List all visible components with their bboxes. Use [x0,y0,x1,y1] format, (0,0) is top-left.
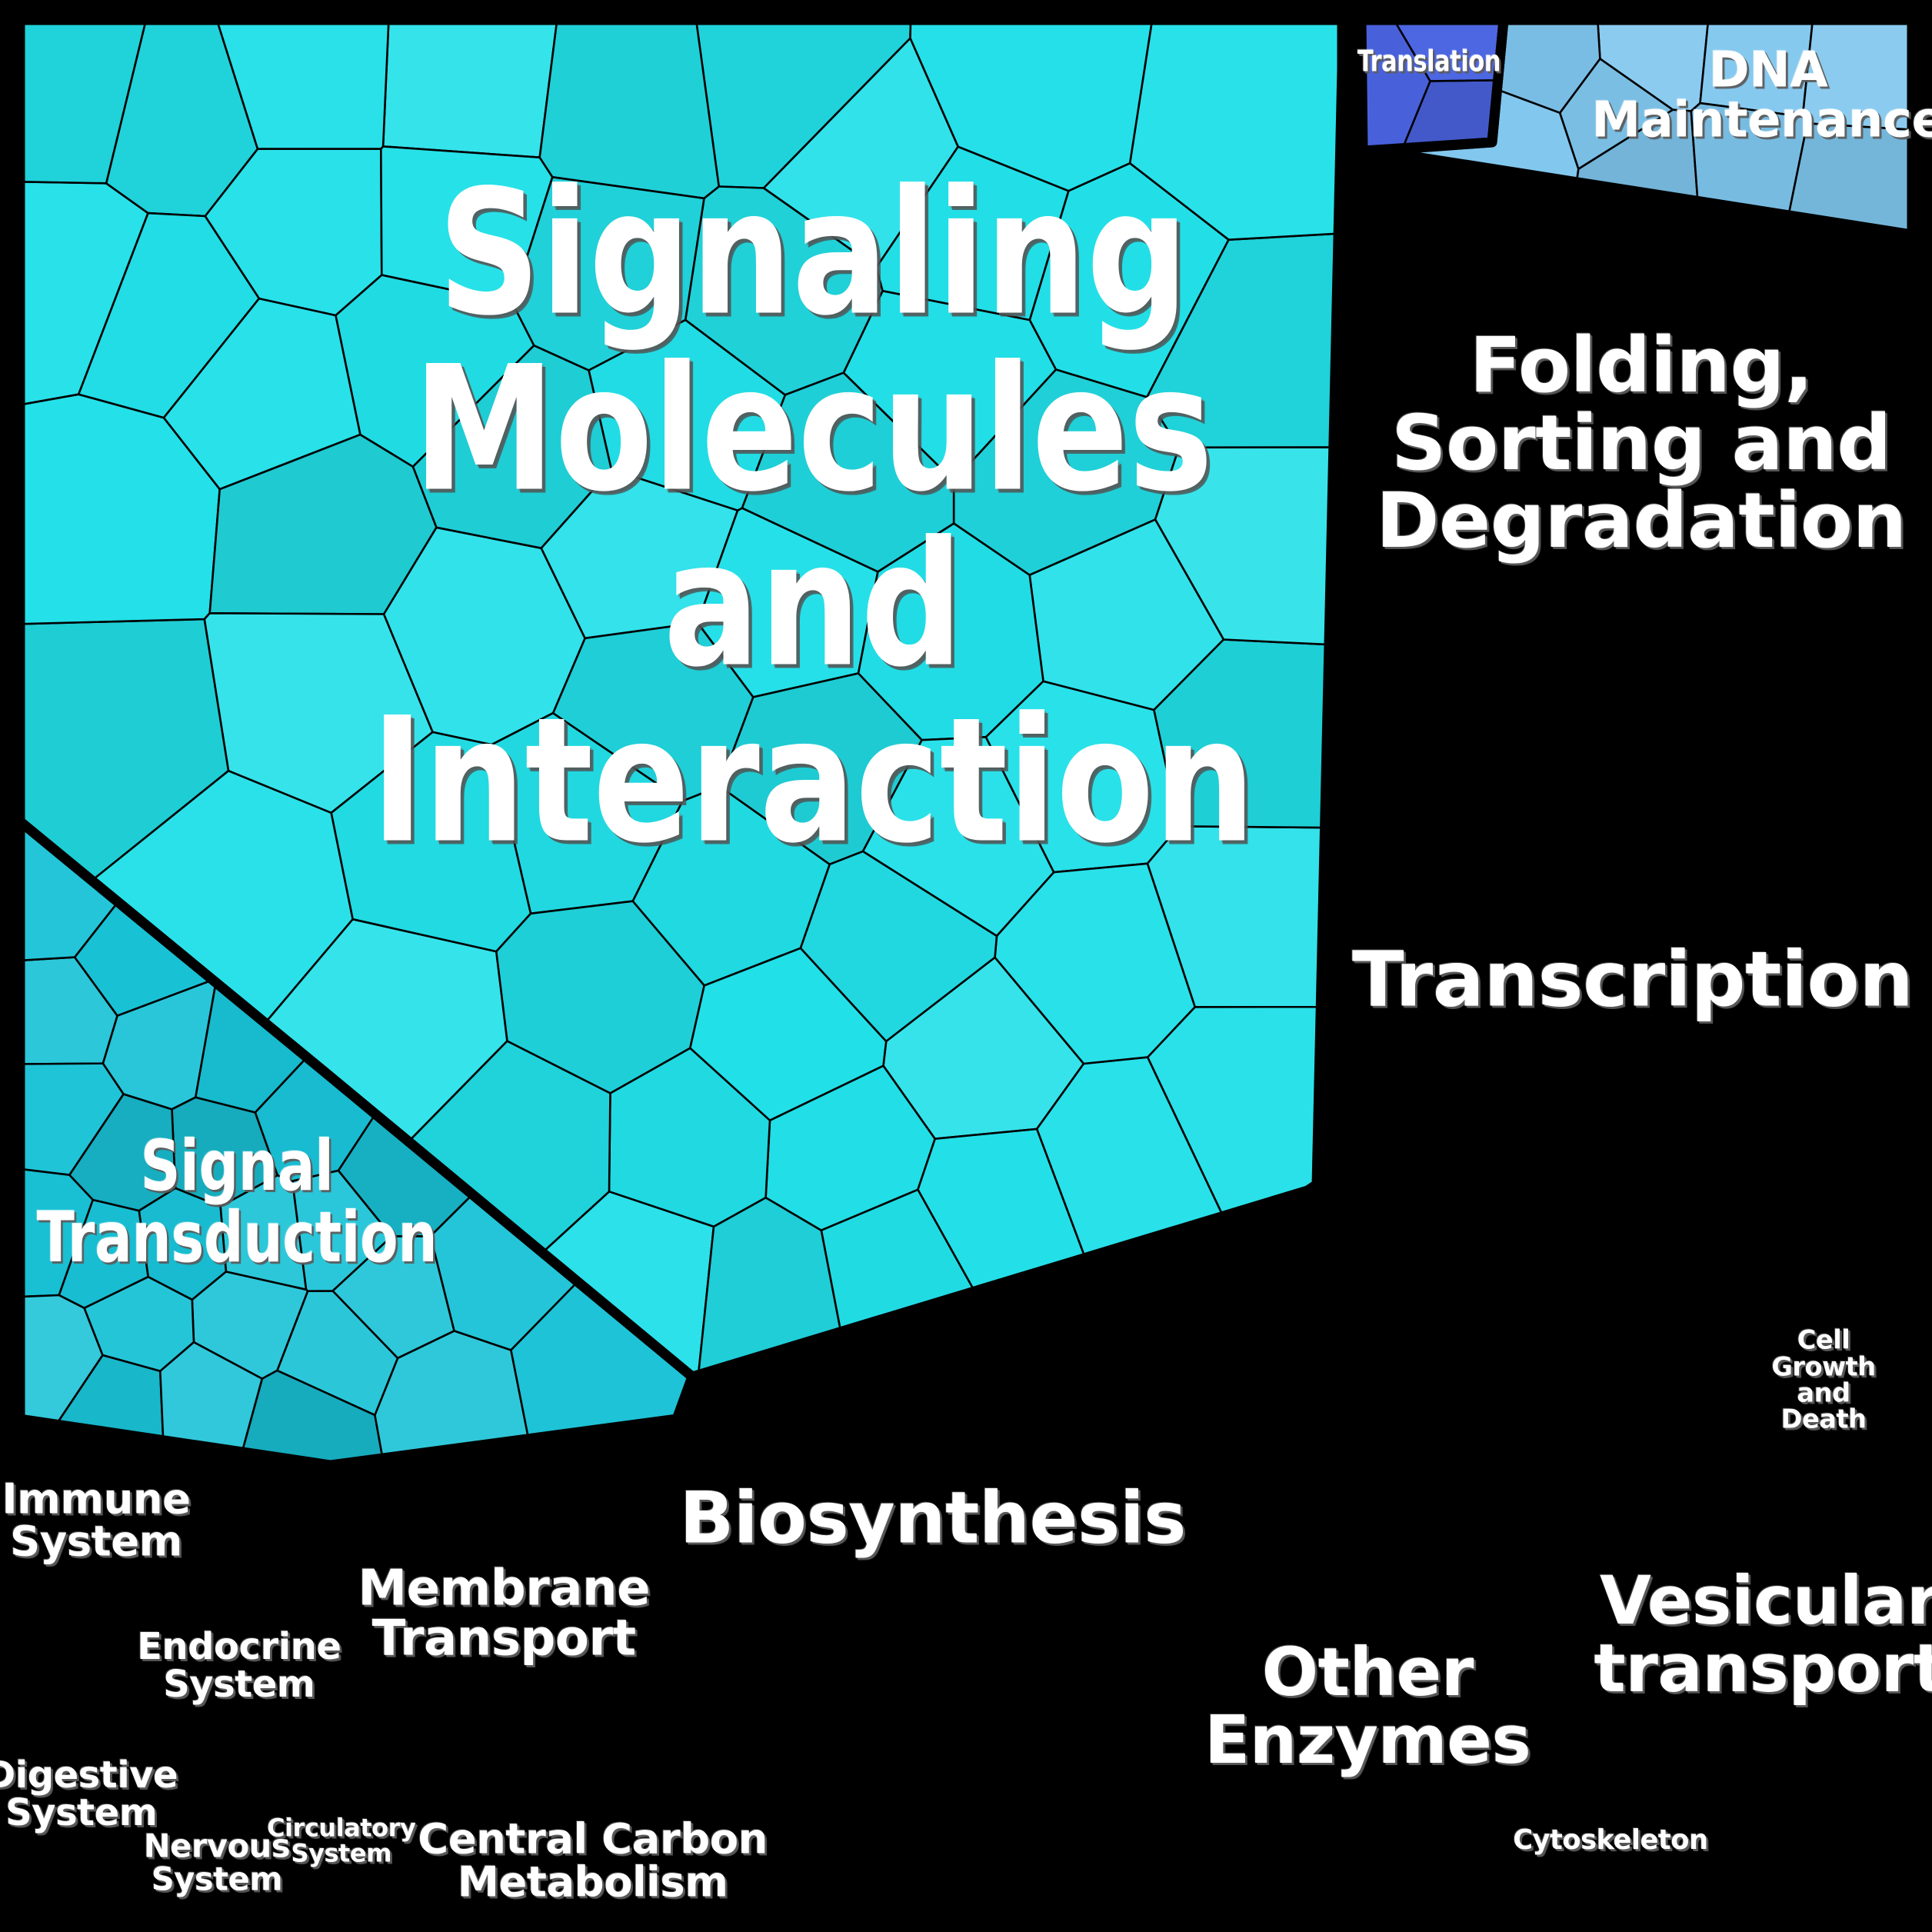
voronoi-treemap-figure: Signaling Molecules and Interaction Sign… [0,0,1932,1932]
voronoi-treemap-canvas [0,0,1932,1932]
voronoi-subcell [1700,20,1813,117]
voronoi-subcell [383,20,557,158]
voronoi-subcell [1803,20,1912,130]
voronoi-subcell [540,20,719,198]
